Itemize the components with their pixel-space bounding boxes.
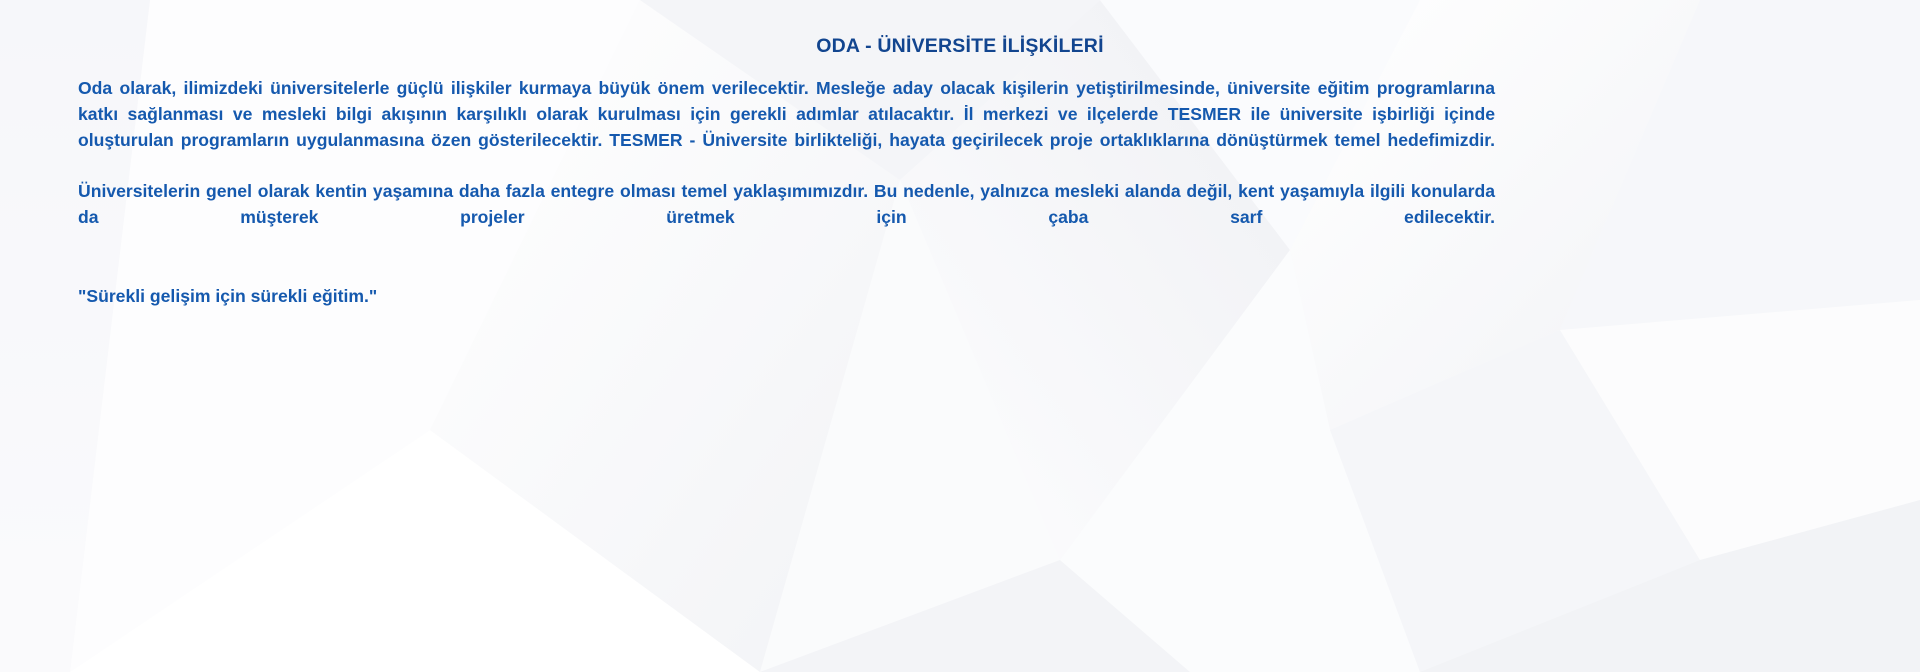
text-block: Oda olarak, ilimizdeki üniversitelerle g… <box>78 76 1495 309</box>
page-content: ODA - ÜNİVERSİTE İLİŞKİLERİ Oda olarak, … <box>0 0 1920 672</box>
paragraph-city-integration: Üniversitelerin genel olarak kentin yaşa… <box>78 179 1495 256</box>
paragraph-university-relations: Oda olarak, ilimizdeki üniversitelerle g… <box>78 76 1495 179</box>
page-title: ODA - ÜNİVERSİTE İLİŞKİLERİ <box>0 35 1920 58</box>
motto-quote: "Sürekli gelişim için sürekli eğitim." <box>78 284 1495 310</box>
